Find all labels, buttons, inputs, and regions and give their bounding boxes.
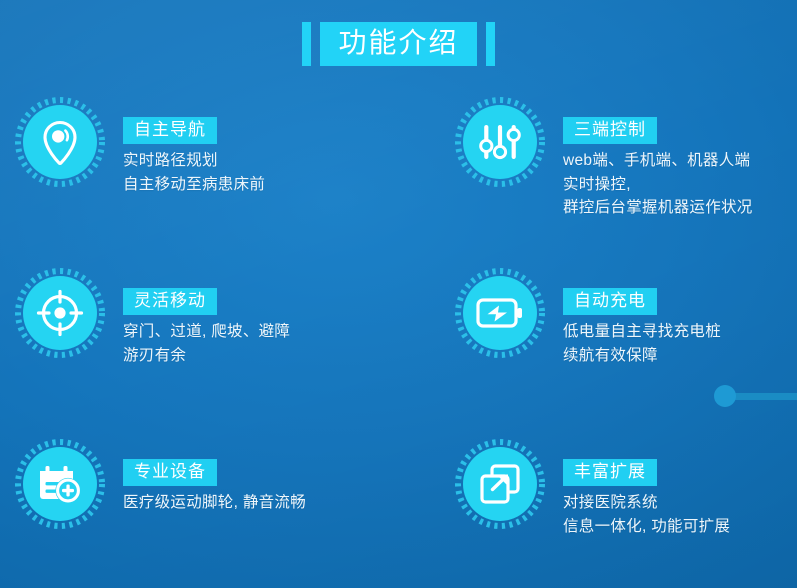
icon-disc <box>463 276 537 350</box>
feature-icon-wrap <box>454 96 546 188</box>
feature-item-three-terminal-control[interactable]: 三端控制 web端、手机端、机器人端 实时操控, 群控后台掌握机器运作状况 <box>445 96 797 267</box>
feature-label: 三端控制 <box>574 120 646 139</box>
feature-text: 三端控制 web端、手机端、机器人端 实时操控, 群控后台掌握机器运作状况 <box>546 96 753 220</box>
feature-description: web端、手机端、机器人端 实时操控, 群控后台掌握机器运作状况 <box>563 149 753 220</box>
battery-charge-icon <box>476 296 524 330</box>
feature-icon-wrap <box>14 267 106 359</box>
feature-description: 低电量自主寻找充电桩 续航有效保障 <box>563 320 721 367</box>
feature-description: 穿门、过道, 爬坡、避障 游刃有余 <box>123 320 290 367</box>
feature-item-professional-equipment[interactable]: 专业设备 医疗级运动脚轮, 静音流畅 <box>0 438 445 588</box>
medical-chart-plus-icon <box>36 462 84 506</box>
feature-label-badge: 灵活移动 <box>123 288 217 315</box>
feature-label: 丰富扩展 <box>574 462 646 481</box>
feature-introduction-poster: 功能介绍 自主导航 <box>0 0 797 588</box>
feature-label: 自动充电 <box>574 291 646 310</box>
feature-item-autonomous-navigation[interactable]: 自主导航 实时路径规划 自主移动至病患床前 <box>0 96 445 267</box>
feature-text: 自动充电 低电量自主寻找充电桩 续航有效保障 <box>546 267 721 367</box>
page-title-badge: 功能介绍 <box>320 22 476 66</box>
page-title: 功能介绍 <box>338 29 458 57</box>
icon-disc <box>463 105 537 179</box>
feature-text: 灵活移动 穿门、过道, 爬坡、避障 游刃有余 <box>106 267 290 367</box>
feature-item-rich-expansion[interactable]: 丰富扩展 对接医院系统 信息一体化, 功能可扩展 <box>445 438 797 588</box>
feature-label: 专业设备 <box>134 462 206 481</box>
feature-grid: 自主导航 实时路径规划 自主移动至病患床前 <box>0 96 797 588</box>
feature-icon-wrap <box>454 267 546 359</box>
feature-label-badge: 自主导航 <box>123 117 217 144</box>
feature-description: 对接医院系统 信息一体化, 功能可扩展 <box>563 491 730 538</box>
feature-text: 自主导航 实时路径规划 自主移动至病患床前 <box>106 96 265 196</box>
feature-icon-wrap <box>454 438 546 530</box>
feature-label-badge: 专业设备 <box>123 459 217 486</box>
feature-label: 自主导航 <box>134 120 206 139</box>
feature-text: 专业设备 医疗级运动脚轮, 静音流畅 <box>106 438 306 515</box>
feature-label-badge: 丰富扩展 <box>563 459 657 486</box>
sliders-icon <box>478 120 522 164</box>
feature-item-auto-charging[interactable]: 自动充电 低电量自主寻找充电桩 续航有效保障 <box>445 267 797 438</box>
feature-item-flexible-movement[interactable]: 灵活移动 穿门、过道, 爬坡、避障 游刃有余 <box>0 267 445 438</box>
feature-label: 灵活移动 <box>134 291 206 310</box>
feature-icon-wrap <box>14 438 106 530</box>
feature-icon-wrap <box>14 96 106 188</box>
feature-label-badge: 自动充电 <box>563 288 657 315</box>
icon-disc <box>23 447 97 521</box>
feature-description: 医疗级运动脚轮, 静音流畅 <box>123 491 306 515</box>
external-link-expand-icon <box>478 462 522 506</box>
feature-description: 实时路径规划 自主移动至病患床前 <box>123 149 265 196</box>
location-pin-icon <box>37 119 83 165</box>
icon-disc <box>23 105 97 179</box>
feature-text: 丰富扩展 对接医院系统 信息一体化, 功能可扩展 <box>546 438 730 538</box>
crosshair-target-icon <box>36 289 84 337</box>
feature-label-badge: 三端控制 <box>563 117 657 144</box>
icon-disc <box>23 276 97 350</box>
title-left-bracket-icon <box>302 22 311 66</box>
title-right-bracket-icon <box>486 22 495 66</box>
page-title-row: 功能介绍 <box>0 22 797 66</box>
icon-disc <box>463 447 537 521</box>
